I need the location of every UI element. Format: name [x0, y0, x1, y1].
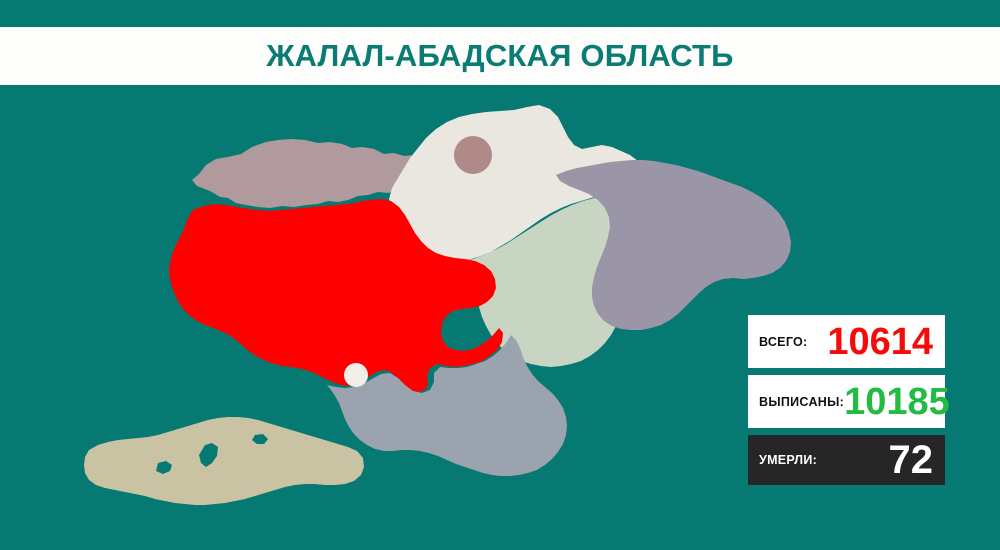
stat-value-recovered: 10185: [844, 383, 950, 421]
stat-label-total: ВСЕГО:: [759, 335, 808, 349]
stat-value-total: 10614: [827, 323, 933, 361]
city-marker-bishkek[interactable]: [454, 136, 492, 174]
infographic-page: ЖАЛАЛ-АБАДСКАЯ ОБЛАСТЬ: [0, 0, 1000, 550]
stat-value-deaths: 72: [889, 440, 934, 480]
stat-label-recovered: ВЫПИСАНЫ:: [759, 395, 844, 409]
page-title: ЖАЛАЛ-АБАДСКАЯ ОБЛАСТЬ: [266, 38, 733, 74]
stats-panel: ВСЕГО: 10614 ВЫПИСАНЫ: 10185 УМЕРЛИ: 72: [748, 315, 945, 485]
stat-row-total: ВСЕГО: 10614: [748, 315, 945, 368]
title-banner: ЖАЛАЛ-АБАДСКАЯ ОБЛАСТЬ: [0, 27, 1000, 85]
city-marker-osh[interactable]: [344, 363, 368, 387]
top-teal-strip: [0, 0, 1000, 27]
stat-label-deaths: УМЕРЛИ:: [759, 453, 817, 467]
map-region-batken[interactable]: [84, 417, 364, 505]
stat-row-recovered: ВЫПИСАНЫ: 10185: [748, 375, 945, 428]
stat-row-deaths: УМЕРЛИ: 72: [748, 435, 945, 485]
